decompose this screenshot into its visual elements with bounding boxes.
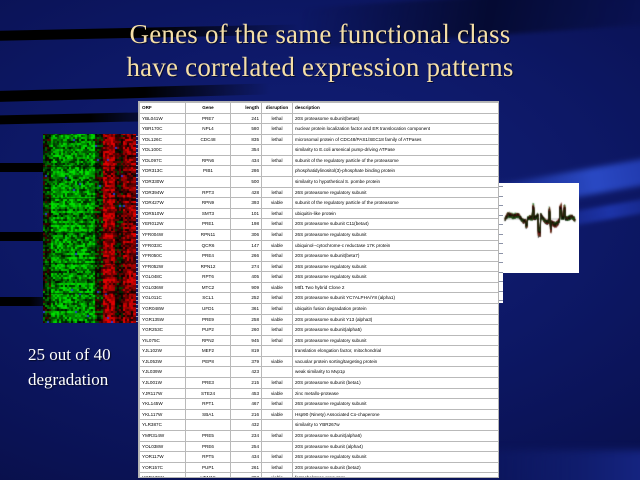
cell-description: Mtf1 Two hybrid Clone 2: [293, 282, 499, 293]
cell-orf: YDR427W: [140, 198, 186, 209]
cell-gene: RPN9: [186, 198, 231, 209]
cell-length: 216: [231, 409, 262, 420]
cell-gene: PUP2: [186, 325, 231, 336]
cell-gene: RPT3: [186, 187, 231, 198]
column-header-description: description: [293, 103, 499, 114]
gene-annotation-table: ORF Gene length disruption description Y…: [139, 102, 499, 478]
cell-gene: UFD1: [186, 303, 231, 314]
cell-disruption: viable: [262, 240, 293, 251]
cell-description: 20S proteasome subunit(beta6): [293, 113, 499, 124]
cell-description: nuclear protein localization factor and …: [293, 124, 499, 135]
cell-disruption: lethal: [262, 452, 293, 463]
table-row[interactable]: YGR253CPUP2260lethal20S proteasome subun…: [140, 325, 499, 336]
expression-profile-lineplot: [503, 183, 579, 273]
slide-title-line-1: Genes of the same functional class: [0, 18, 640, 51]
cell-gene: SBA1: [186, 409, 231, 420]
cell-gene: PEP8: [186, 356, 231, 367]
cell-gene: HEM15: [186, 473, 231, 478]
cell-disruption: lethal: [262, 430, 293, 441]
cell-description: 26S proteasome regulatory subunit: [293, 399, 499, 410]
cell-length: 147: [231, 240, 262, 251]
cell-description: 26S proteasome regulatory subunit: [293, 187, 499, 198]
cell-disruption: lethal: [262, 251, 293, 262]
cell-length: 393: [231, 473, 262, 478]
cell-orf: YJR117W: [140, 388, 186, 399]
table-row[interactable]: YDL097CRPN6434lethalsubunit of the regul…: [140, 155, 499, 166]
cell-gene: RPT1: [186, 399, 231, 410]
cell-description: subunit of the regulatory particle of th…: [293, 198, 499, 209]
cell-gene: CDC48: [186, 134, 231, 145]
cell-disruption: viable: [262, 314, 293, 325]
table-row[interactable]: YKL117WSBA1216viableHsp90 (Ninety) Assoc…: [140, 409, 499, 420]
cell-length: 198: [231, 219, 262, 230]
cell-description: 26S proteasome regulatory subunit: [293, 261, 499, 272]
cell-length: 434: [231, 155, 262, 166]
cell-length: 286: [231, 166, 262, 177]
cell-disruption: lethal: [262, 261, 293, 272]
cell-disruption: viable: [262, 409, 293, 420]
slide-title-line-2: have correlated expression patterns: [0, 51, 640, 84]
cell-length: 432: [231, 420, 262, 431]
cell-orf: YJL053W: [140, 356, 186, 367]
cell-gene: MEF2: [186, 346, 231, 357]
cell-orf: YBR170C: [140, 124, 186, 135]
table-row[interactable]: YBL041WPRE7241lethal20S proteasome subun…: [140, 113, 499, 124]
cell-length: 274: [231, 261, 262, 272]
cell-orf: YOR157C: [140, 462, 186, 473]
cell-description: 20S proteasome subunit YC7ALPHA/Y8 (alph…: [293, 293, 499, 304]
table-row[interactable]: YDR427WRPN9393viablesubunit of the regul…: [140, 198, 499, 209]
cell-description: 20S proteasome subunit(alpha6): [293, 430, 499, 441]
table-row[interactable]: YJL102WMEF2819translation elongation fac…: [140, 346, 499, 357]
cell-disruption: lethal: [262, 155, 293, 166]
table-row[interactable]: YOR157CPUP1261lethal20S proteasome subun…: [140, 462, 499, 473]
cell-orf: YLR387C: [140, 420, 186, 431]
cell-description: vacuolar protein sorting/targeting prote…: [293, 356, 499, 367]
cell-gene: PRE7: [186, 113, 231, 124]
cell-orf: YKL117W: [140, 409, 186, 420]
cell-disruption: lethal: [262, 229, 293, 240]
cell-disruption: lethal: [262, 208, 293, 219]
table-row[interactable]: YDL126CCDC48835lethalmicrosomal protein …: [140, 134, 499, 145]
cell-orf: YKL145W: [140, 399, 186, 410]
cell-orf: YGL036W: [140, 282, 186, 293]
cell-description: Hsp90 (Ninety) Associated Co-chaperone: [293, 409, 499, 420]
cell-gene: [186, 145, 231, 156]
table-row[interactable]: YGL036WMTC2909viableMtf1 Two hybrid Clon…: [140, 282, 499, 293]
cell-gene: PRE9: [186, 314, 231, 325]
cell-gene: PRE6: [186, 441, 231, 452]
cell-length: 258: [231, 314, 262, 325]
cell-disruption: viable: [262, 282, 293, 293]
table-row[interactable]: YER012WPRE1198lethal20S proteasome subun…: [140, 219, 499, 230]
cell-description: ubiquinol--cytochrome-c reductase 17K pr…: [293, 240, 499, 251]
table-row[interactable]: YDR330W500similarity to hypothetical S. …: [140, 177, 499, 188]
cell-orf: YMR314W: [140, 430, 186, 441]
heatmap-canvas: [43, 134, 136, 323]
table-row[interactable]: YGR135WPRE9258viable20S proteasome subun…: [140, 314, 499, 325]
cell-description: similarity to hypothetical S. pombe prot…: [293, 177, 499, 188]
cell-description: ubiquitin fusion degradation protein: [293, 303, 499, 314]
cell-orf: YER012W: [140, 219, 186, 230]
cell-gene: RPN2: [186, 335, 231, 346]
cell-length: 306: [231, 229, 262, 240]
cell-description: similarity to E.coli arsenical pump-driv…: [293, 145, 499, 156]
cell-orf: YDL126C: [140, 134, 186, 145]
cell-disruption: viable: [262, 198, 293, 209]
cell-orf: YFR052W: [140, 261, 186, 272]
cell-orf: YJL039W: [140, 367, 186, 378]
cell-description: 26S proteasome regulatory subunit: [293, 229, 499, 240]
cell-disruption: [262, 346, 293, 357]
table-row[interactable]: YOL038WPRE625420S proteasome subunit (al…: [140, 441, 499, 452]
column-header-orf: ORF: [140, 103, 186, 114]
cell-length: 379: [231, 356, 262, 367]
table-row[interactable]: YOR176WHEM15393viableferrochelatase prec…: [140, 473, 499, 478]
cell-orf: YDL100C: [140, 145, 186, 156]
cell-description: phosphatidylinositol(3)-phosphate bindin…: [293, 166, 499, 177]
lineplot-canvas: [503, 183, 579, 273]
cell-length: 909: [231, 282, 262, 293]
cell-gene: NPL4: [186, 124, 231, 135]
cell-gene: PRE1: [186, 219, 231, 230]
cell-disruption: lethal: [262, 378, 293, 389]
cell-gene: SCL1: [186, 293, 231, 304]
table-row[interactable]: YKL145WRPT1467lethal26S proteasome regul…: [140, 399, 499, 410]
cell-length: 423: [231, 367, 262, 378]
cell-orf: YFR050C: [140, 251, 186, 262]
cell-description: translation elongation factor, mitochond…: [293, 346, 499, 357]
table-row[interactable]: YOR117WRPT5434lethal26S proteasome regul…: [140, 452, 499, 463]
cell-description: subunit of the regulatory particle of th…: [293, 155, 499, 166]
table-row[interactable]: YJL039W423weak similarity to Mvp1p: [140, 367, 499, 378]
cell-length: 266: [231, 251, 262, 262]
microarray-heatmap-image: [43, 134, 136, 323]
cell-length: 260: [231, 325, 262, 336]
body-text-left-line-1: 25 out of 40: [28, 343, 111, 368]
cell-orf: YFR033C: [140, 240, 186, 251]
cell-disruption: lethal: [262, 124, 293, 135]
cell-orf: YGL048C: [140, 272, 186, 283]
cell-disruption: lethal: [262, 462, 293, 473]
cell-gene: [186, 420, 231, 431]
cell-gene: PRE3: [186, 378, 231, 389]
cell-orf: YGR253C: [140, 325, 186, 336]
cell-disruption: lethal: [262, 325, 293, 336]
cell-length: 819: [231, 346, 262, 357]
table-row[interactable]: YGL048CRPT6405lethal26S proteasome regul…: [140, 272, 499, 283]
cell-orf: YBL041W: [140, 113, 186, 124]
cell-length: 580: [231, 124, 262, 135]
cell-orf: YJL102W: [140, 346, 186, 357]
table-row[interactable]: YJL001WPRE3215lethal20S proteasome subun…: [140, 378, 499, 389]
cell-orf: YOL038W: [140, 441, 186, 452]
cell-orf: YGL011C: [140, 293, 186, 304]
presentation-slide: Genes of the same functional class have …: [0, 0, 640, 480]
cell-disruption: lethal: [262, 187, 293, 198]
table-row[interactable]: YJL053WPEP8379viablevacuolar protein sor…: [140, 356, 499, 367]
cell-description: ubiquitin-like protein: [293, 208, 499, 219]
cell-description: 20S proteasome subunit (beta1): [293, 378, 499, 389]
cell-length: 405: [231, 272, 262, 283]
table-row[interactable]: YGL011CSCL1252lethal20S proteasome subun…: [140, 293, 499, 304]
cell-gene: [186, 367, 231, 378]
cell-description: 26S proteasome regulatory subunit: [293, 335, 499, 346]
cell-gene: RPN11: [186, 229, 231, 240]
cell-length: 453: [231, 388, 262, 399]
cell-description: 26S proteasome regulatory subunit: [293, 272, 499, 283]
cell-length: 234: [231, 430, 262, 441]
cell-gene: PRE4: [186, 251, 231, 262]
cell-orf: YIL075C: [140, 335, 186, 346]
table-row[interactable]: YMR314WPRE5234lethal20S proteasome subun…: [140, 430, 499, 441]
cell-description: 20S proteasome subunit (alpha4): [293, 441, 499, 452]
cell-orf: YJL001W: [140, 378, 186, 389]
cell-description: 20S proteasome subunit (beta2): [293, 462, 499, 473]
table-row[interactable]: YFR004WRPN11306lethal26S proteasome regu…: [140, 229, 499, 240]
cell-disruption: [262, 441, 293, 452]
cell-length: 467: [231, 399, 262, 410]
cell-gene: [186, 177, 231, 188]
cell-length: 835: [231, 134, 262, 145]
cell-description: ferrochelatase precursor: [293, 473, 499, 478]
cell-length: 428: [231, 187, 262, 198]
table-row[interactable]: YFR052WRPN12274lethal26S proteasome regu…: [140, 261, 499, 272]
cell-disruption: viable: [262, 356, 293, 367]
cell-description: 20S proteasome subunit(alpha5): [293, 325, 499, 336]
cell-description: 20S proteasome subunit Y13 (alpha3): [293, 314, 499, 325]
cell-disruption: [262, 166, 293, 177]
cell-gene: PRE5: [186, 430, 231, 441]
cell-disruption: viable: [262, 473, 293, 478]
cell-orf: YFR004W: [140, 229, 186, 240]
cell-disruption: viable: [262, 388, 293, 399]
cell-disruption: lethal: [262, 113, 293, 124]
table-row[interactable]: YFR050CPRE4266lethal20S proteasome subun…: [140, 251, 499, 262]
cell-orf: YGR048W: [140, 303, 186, 314]
cell-orf: YDR330W: [140, 177, 186, 188]
cell-disruption: lethal: [262, 399, 293, 410]
table-row[interactable]: YIL075CRPN2945lethal26S proteasome regul…: [140, 335, 499, 346]
gene-annotation-table-panel[interactable]: ORF Gene length disruption description Y…: [138, 101, 499, 478]
cell-description: zinc metallo-protease: [293, 388, 499, 399]
cell-length: 252: [231, 293, 262, 304]
cell-orf: YDR510W: [140, 208, 186, 219]
cell-length: 354: [231, 145, 262, 156]
cell-length: 945: [231, 335, 262, 346]
cell-disruption: lethal: [262, 293, 293, 304]
table-row[interactable]: YDR510WSMT3101lethalubiquitin-like prote…: [140, 208, 499, 219]
cell-gene: PIB1: [186, 166, 231, 177]
cell-orf: YDL097C: [140, 155, 186, 166]
cell-gene: STE24: [186, 388, 231, 399]
table-row[interactable]: YDR394WRPT3428lethal26S proteasome regul…: [140, 187, 499, 198]
body-text-left: 25 out of 40 degradation: [28, 343, 111, 392]
cell-length: 241: [231, 113, 262, 124]
cell-description: 20S proteasome subunit C11(beta4): [293, 219, 499, 230]
cell-orf: YOR117W: [140, 452, 186, 463]
cell-description: weak similarity to Mvp1p: [293, 367, 499, 378]
cell-description: microsomal protein of CDC48/PAS1/SEC18 f…: [293, 134, 499, 145]
cell-orf: YDR394W: [140, 187, 186, 198]
cell-length: 254: [231, 441, 262, 452]
cell-orf: YGR135W: [140, 314, 186, 325]
cell-length: 434: [231, 452, 262, 463]
column-header-gene: Gene: [186, 103, 231, 114]
column-header-length: length: [231, 103, 262, 114]
cell-length: 215: [231, 378, 262, 389]
cell-disruption: [262, 145, 293, 156]
cell-description: 20S proteasome subunit(beta7): [293, 251, 499, 262]
cell-gene: PUP1: [186, 462, 231, 473]
cell-gene: MTC2: [186, 282, 231, 293]
cell-gene: QCR6: [186, 240, 231, 251]
table-row[interactable]: YGR048WUFD1361lethalubiquitin fusion deg…: [140, 303, 499, 314]
table-row[interactable]: YLR387C432similarity to YBR267w: [140, 420, 499, 431]
cell-disruption: lethal: [262, 272, 293, 283]
cell-gene: SMT3: [186, 208, 231, 219]
column-header-disruption: disruption: [262, 103, 293, 114]
cell-disruption: lethal: [262, 335, 293, 346]
cell-length: 500: [231, 177, 262, 188]
cell-length: 101: [231, 208, 262, 219]
cell-length: 393: [231, 198, 262, 209]
cell-disruption: lethal: [262, 219, 293, 230]
cell-description: 26S proteasome regulatory subunit: [293, 452, 499, 463]
cell-gene: RPT5: [186, 452, 231, 463]
cell-disruption: [262, 420, 293, 431]
cell-gene: RPN6: [186, 155, 231, 166]
cell-orf: YOR176W: [140, 473, 186, 478]
table-row[interactable]: YBR170CNPL4580lethalnuclear protein loca…: [140, 124, 499, 135]
table-header-row: ORF Gene length disruption description: [140, 103, 499, 114]
cell-disruption: lethal: [262, 134, 293, 145]
body-text-left-line-2: degradation: [28, 368, 111, 393]
slide-title: Genes of the same functional class have …: [0, 18, 640, 85]
cell-length: 261: [231, 462, 262, 473]
table-row[interactable]: YJR117WSTE24453viablezinc metallo-protea…: [140, 388, 499, 399]
table-row[interactable]: YDR313CPIB1286phosphatidylinositol(3)-ph…: [140, 166, 499, 177]
cell-orf: YDR313C: [140, 166, 186, 177]
cell-length: 361: [231, 303, 262, 314]
cell-gene: RPN12: [186, 261, 231, 272]
cell-disruption: [262, 177, 293, 188]
cell-disruption: lethal: [262, 303, 293, 314]
cell-disruption: [262, 367, 293, 378]
table-row[interactable]: YFR033CQCR6147viableubiquinol--cytochrom…: [140, 240, 499, 251]
cell-gene: RPT6: [186, 272, 231, 283]
table-row[interactable]: YDL100C354similarity to E.coli arsenical…: [140, 145, 499, 156]
cell-description: similarity to YBR267w: [293, 420, 499, 431]
